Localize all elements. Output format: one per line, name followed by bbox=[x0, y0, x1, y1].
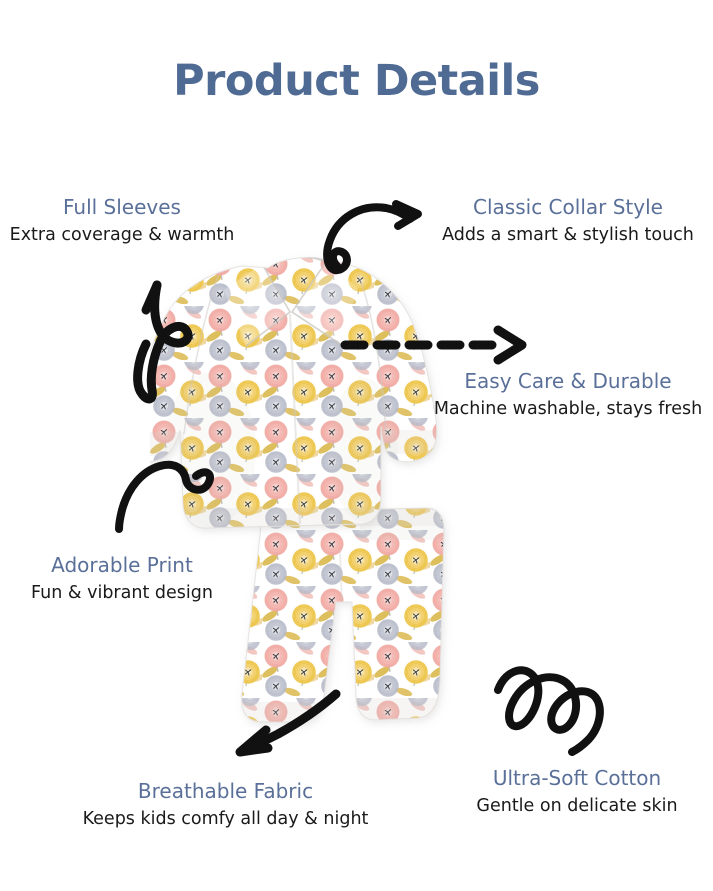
feature-subtitle: Machine washable, stays fresh bbox=[424, 397, 712, 421]
feature-subtitle: Extra coverage & warmth bbox=[0, 223, 248, 247]
feature-subtitle: Gentle on delicate skin bbox=[443, 794, 711, 818]
page-title: Product Details bbox=[0, 55, 713, 107]
feature-full-sleeves: Full Sleeves Extra coverage & warmth bbox=[0, 194, 248, 247]
feature-easy-care: Easy Care & Durable Machine washable, st… bbox=[424, 368, 712, 421]
feature-title: Classic Collar Style bbox=[424, 194, 712, 221]
pajama-shirt bbox=[150, 256, 438, 530]
feature-subtitle: Adds a smart & stylish touch bbox=[424, 223, 712, 247]
product-image bbox=[150, 250, 480, 750]
pajama-pants bbox=[240, 506, 450, 724]
feature-breathable-fabric: Breathable Fabric Keeps kids comfy all d… bbox=[53, 778, 398, 831]
feature-adorable-print: Adorable Print Fun & vibrant design bbox=[0, 552, 248, 605]
feature-title: Easy Care & Durable bbox=[424, 368, 712, 395]
feature-ultra-soft-cotton: Ultra-Soft Cotton Gentle on delicate ski… bbox=[443, 765, 711, 818]
feature-title: Full Sleeves bbox=[0, 194, 248, 221]
feature-title: Adorable Print bbox=[0, 552, 248, 579]
feature-classic-collar: Classic Collar Style Adds a smart & styl… bbox=[424, 194, 712, 247]
feature-subtitle: Fun & vibrant design bbox=[0, 581, 248, 605]
feature-title: Breathable Fabric bbox=[53, 778, 398, 805]
feature-title: Ultra-Soft Cotton bbox=[443, 765, 711, 792]
product-details-infographic: Product Details bbox=[0, 0, 713, 891]
feature-subtitle: Keeps kids comfy all day & night bbox=[53, 807, 398, 831]
arrow-ultra-soft-cotton bbox=[498, 670, 600, 760]
